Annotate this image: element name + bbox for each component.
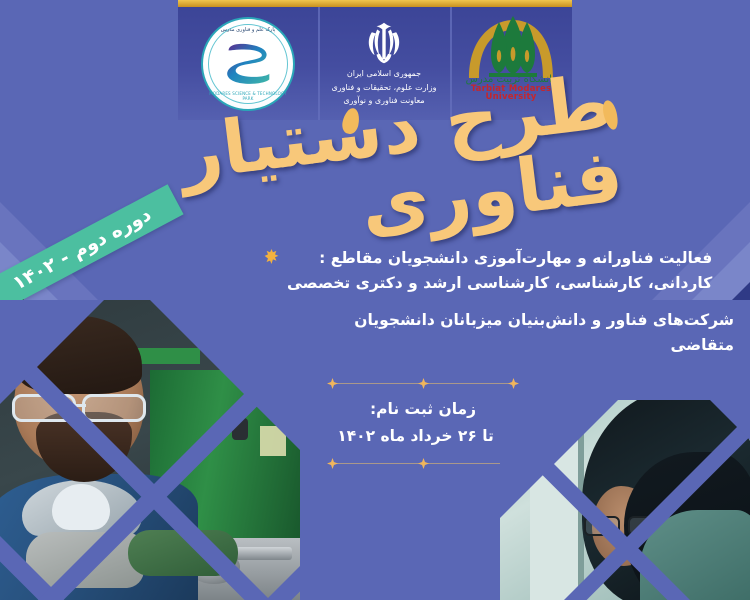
registration-label: زمان ثبت نام: bbox=[370, 400, 476, 418]
bullet-item: شرکت‌های فناور و دانش‌بنیان میزبانان دان… bbox=[264, 308, 734, 358]
ornament-divider-bottom bbox=[323, 458, 523, 469]
photo-student bbox=[500, 400, 750, 600]
diamond-ornament-icon bbox=[508, 378, 519, 389]
poster-main-title: طرح دستیار فناوری bbox=[0, 122, 620, 230]
photo-technician bbox=[0, 300, 300, 600]
bullet-list: فعالیت فناورانه و مهارت‌آموزی دانشجویان … bbox=[264, 246, 734, 364]
ministry-line-1: جمهوری اسلامی ایران bbox=[347, 68, 421, 80]
iran-national-emblem-icon bbox=[357, 20, 411, 66]
diamond-ornament-icon bbox=[327, 458, 338, 469]
bullet-1-line-2: کاردانی، کارشناسی، کارشناسی ارشد و دکتری… bbox=[287, 271, 712, 296]
bullet-2-line-1: شرکت‌های فناور و دانش‌بنیان میزبانان دان… bbox=[354, 311, 734, 354]
starburst-icon bbox=[264, 249, 279, 264]
ornament-divider-top bbox=[323, 378, 523, 389]
gold-top-bar bbox=[178, 0, 572, 7]
diamond-ornament-icon bbox=[327, 378, 338, 389]
poster-canvas: پارک علم و فناوری مدرس MODARES SCIENCE &… bbox=[0, 0, 750, 600]
park-logo-top-text: پارک علم و فناوری مدرس bbox=[203, 27, 293, 33]
bullet-1-line-1: فعالیت فناورانه و مهارت‌آموزی دانشجویان … bbox=[319, 249, 712, 267]
registration-dates: ۶ تا ۲۶ خرداد ماه ۱۴۰۲ bbox=[318, 423, 528, 450]
diamond-ornament-icon bbox=[418, 378, 429, 389]
registration-text: زمان ثبت نام: ۶ تا ۲۶ خرداد ماه ۱۴۰۲ bbox=[318, 389, 528, 458]
diamond-ornament-icon bbox=[418, 458, 429, 469]
registration-block: زمان ثبت نام: ۶ تا ۲۶ خرداد ماه ۱۴۰۲ bbox=[318, 378, 528, 469]
bullet-item: فعالیت فناورانه و مهارت‌آموزی دانشجویان … bbox=[264, 246, 734, 296]
